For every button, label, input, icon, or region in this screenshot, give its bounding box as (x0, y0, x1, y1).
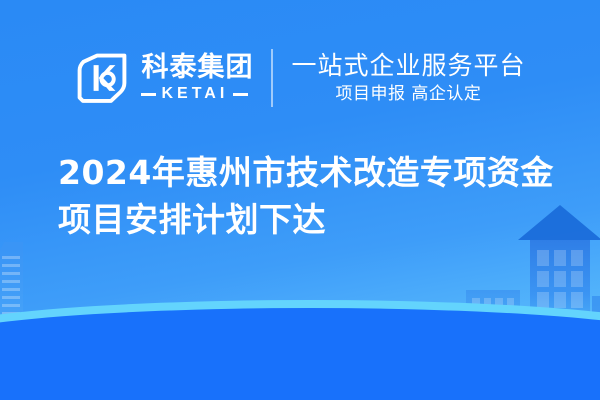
dash-left-icon (141, 93, 156, 96)
pitched-roof-building-windows (537, 250, 583, 350)
skyscraper-cap (0, 242, 23, 250)
building-block-top (47, 327, 81, 331)
ground-band (0, 308, 600, 400)
tagline-primary: 一站式企业服务平台 (291, 52, 525, 80)
company-name-en: KETAI (161, 86, 228, 102)
brand-lockup: 科泰集团 KETAI (74, 50, 253, 106)
building-edge-icon (592, 296, 600, 356)
building-block-icon (27, 323, 45, 363)
dash-right-icon (233, 93, 248, 96)
vertical-divider-icon (271, 49, 273, 107)
brand-text: 科泰集团 KETAI (141, 54, 253, 102)
office-building-windows (472, 298, 514, 340)
promo-banner: 科泰集团 KETAI 一站式企业服务平台 项目申报 高企认定 2024年惠州市技… (0, 0, 600, 400)
page-title: 2024年惠州市技术改造专项资金项目安排计划下达 (58, 150, 558, 244)
tagline-secondary: 项目申报 高企认定 (291, 85, 525, 104)
ketai-diamond-kp-logo-icon (74, 50, 130, 106)
curved-horizon-icon (0, 300, 600, 400)
skyscraper-windows (2, 256, 20, 370)
skyscraper-icon (0, 250, 23, 370)
pitched-roof-building-icon (530, 240, 590, 360)
company-name-en-row: KETAI (141, 86, 253, 102)
building-block-icon (45, 331, 83, 364)
office-building-icon (466, 290, 520, 362)
banner-header: 科泰集团 KETAI 一站式企业服务平台 项目申报 高企认定 (0, 34, 600, 122)
tagline-block: 一站式企业服务平台 项目申报 高企认定 (291, 52, 525, 104)
company-name-cn: 科泰集团 (141, 54, 253, 81)
